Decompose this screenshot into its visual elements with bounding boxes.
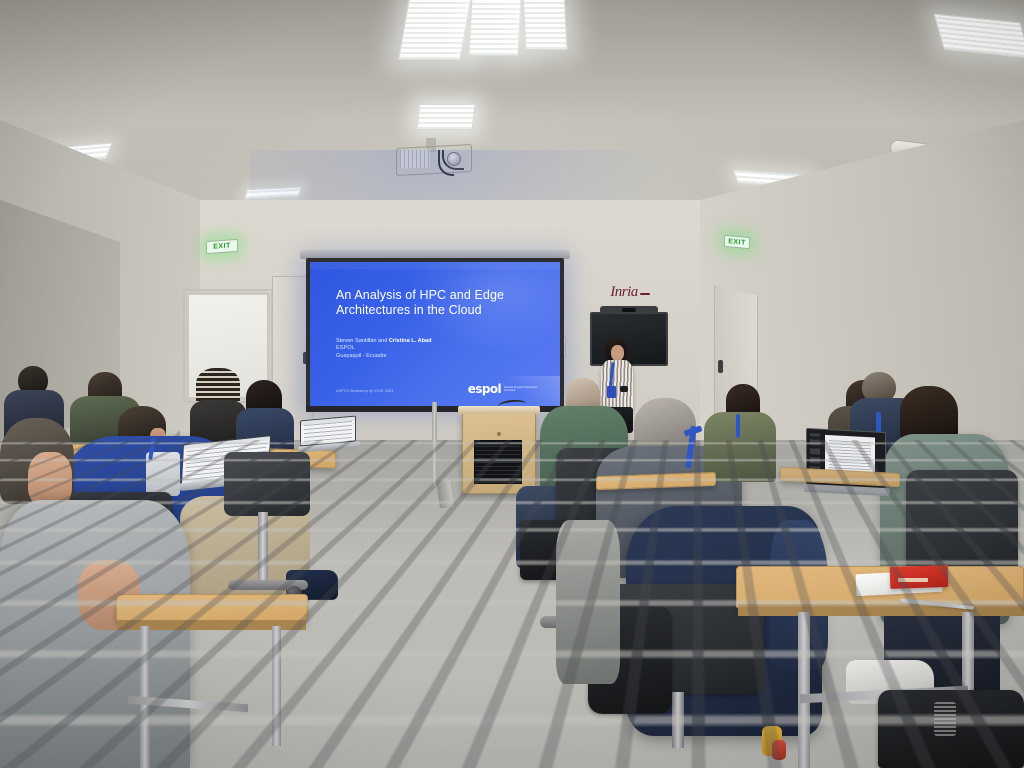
slide-author-first: Steven Santillán and <box>336 338 389 344</box>
presenter-face <box>611 345 624 361</box>
slide-location: Guayaquil - Ecuador <box>336 353 526 360</box>
presentation-slide: An Analysis of HPC and Edge Architecture… <box>310 262 560 406</box>
lectern-knob-icon <box>497 432 501 436</box>
presenter-badge <box>607 386 616 398</box>
slide-footer: AHPC3 Workshop @ ICDE 2023 <box>336 389 394 393</box>
bag-logo <box>934 702 956 736</box>
exit-sign-right: EXIT <box>724 235 750 249</box>
laptop-content-lines <box>304 421 352 442</box>
door-handle-icon[interactable] <box>718 360 723 373</box>
projection-screen-frame: An Analysis of HPC and Edge Architecture… <box>306 258 564 410</box>
lectern-grille <box>474 440 522 484</box>
keychain-charm <box>772 740 786 760</box>
conference-room-photo: EXIT EXIT Inria An Analysis of HPC and E… <box>0 0 1024 768</box>
exit-sign-label: EXIT <box>728 238 746 247</box>
slide-authors: Steven Santillán and Cristina L. Abad ES… <box>336 338 526 360</box>
exit-sign-left: EXIT <box>206 239 238 254</box>
table-leg <box>798 612 810 768</box>
chair-post <box>672 692 684 748</box>
chair-post <box>258 512 268 584</box>
person-gray-sweater <box>0 500 190 768</box>
slide-author-line: Steven Santillán and Cristina L. Abad <box>336 338 526 345</box>
ceiling-light-panel <box>523 0 568 50</box>
foreground-table <box>116 594 308 622</box>
espol-wordmark: espol <box>468 382 501 396</box>
person-lanyard <box>736 414 740 438</box>
ceiling-light-panel <box>417 104 476 130</box>
office-chair-back[interactable] <box>224 452 310 516</box>
person-body <box>704 412 776 482</box>
presenter-watch-icon <box>620 386 628 392</box>
slide-title: An Analysis of HPC and Edge Architecture… <box>336 288 536 318</box>
ceiling-light-panel <box>398 0 472 60</box>
red-box-label <box>898 578 928 582</box>
table-edge <box>738 604 1024 616</box>
slide-title-line1: An Analysis of HPC and Edge <box>336 288 536 303</box>
exit-sign-label: EXIT <box>213 242 231 250</box>
wall-display <box>590 312 668 366</box>
red-pencil-case[interactable] <box>890 565 949 589</box>
slide-affiliation: ESPOL <box>336 345 526 352</box>
inria-logo: Inria <box>598 282 650 302</box>
ceiling-light-panel <box>468 0 521 56</box>
screen-stand-pole <box>432 402 437 486</box>
person-trousers <box>556 520 620 684</box>
slide-author-highlight: Cristina L. Abad <box>389 338 432 344</box>
projector-vent <box>400 149 430 169</box>
table-leg <box>272 626 281 746</box>
presenter-blouse <box>601 360 633 412</box>
slide-title-line2: Architectures in the Cloud <box>336 303 536 318</box>
